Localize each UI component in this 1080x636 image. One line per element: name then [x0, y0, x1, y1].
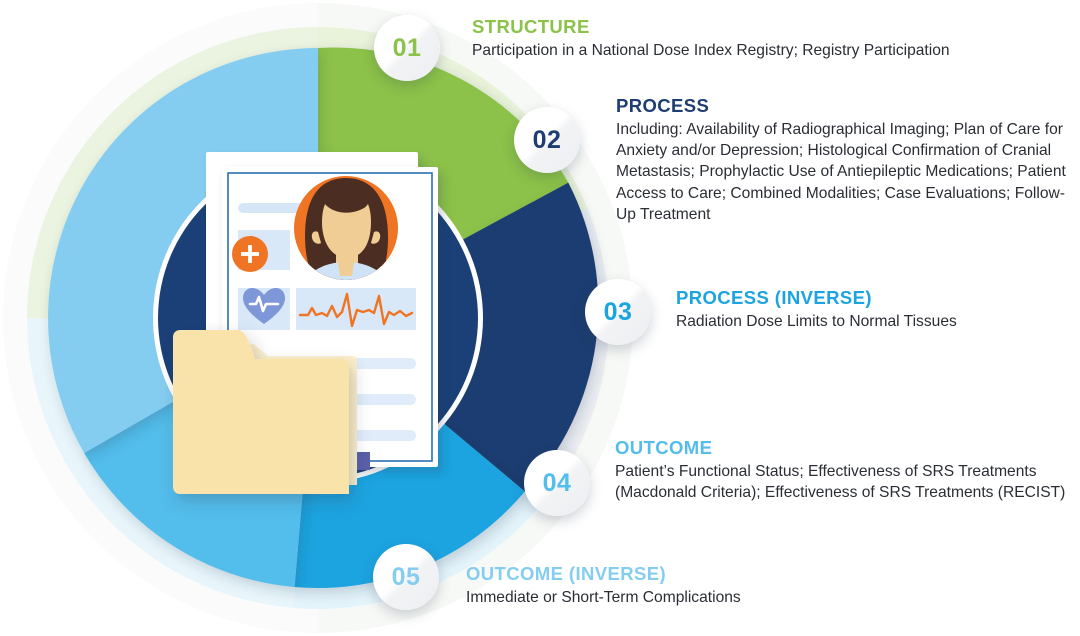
badge-03-label: 03: [604, 300, 633, 325]
badge-03[interactable]: 03: [585, 279, 651, 345]
section-outcome-inverse-body: Immediate or Short-Term Complications: [466, 587, 886, 608]
section-structure-title: STRUCTURE: [472, 16, 1072, 38]
section-process-inverse: PROCESS (INVERSE) Radiation Dose Limits …: [676, 287, 1076, 332]
badge-05[interactable]: 05: [373, 544, 439, 610]
badge-01[interactable]: 01: [374, 15, 440, 81]
section-outcome-inverse-title: OUTCOME (INVERSE): [466, 563, 886, 585]
badge-01-label: 01: [393, 36, 422, 61]
section-structure-body: Participation in a National Dose Index R…: [472, 40, 1072, 61]
section-outcome-title: OUTCOME: [615, 437, 1080, 459]
ecg-tile: [296, 288, 416, 330]
section-process-inverse-body: Radiation Dose Limits to Normal Tissues: [676, 311, 1076, 332]
section-outcome-inverse: OUTCOME (INVERSE) Immediate or Short-Ter…: [466, 563, 886, 608]
badge-04-label: 04: [543, 471, 572, 496]
badge-05-label: 05: [392, 565, 421, 590]
section-process: PROCESS Including: Availability of Radio…: [616, 95, 1078, 225]
medical-record-illustration: [173, 152, 438, 494]
section-process-body: Including: Availability of Radiographica…: [616, 119, 1078, 225]
section-outcome: OUTCOME Patient’s Functional Status; Eff…: [615, 437, 1080, 503]
section-process-title: PROCESS: [616, 95, 1078, 117]
section-process-inverse-title: PROCESS (INVERSE): [676, 287, 1076, 309]
badge-02[interactable]: 02: [514, 107, 580, 173]
infographic-canvas: 01 02 03 04 05 STRUCTURE Participation i…: [0, 0, 1080, 636]
badge-02-label: 02: [533, 128, 562, 153]
document-title-bar: [238, 203, 304, 213]
section-structure: STRUCTURE Participation in a National Do…: [472, 16, 1072, 61]
badge-04[interactable]: 04: [524, 450, 590, 516]
section-outcome-body: Patient’s Functional Status; Effectivene…: [615, 461, 1080, 503]
